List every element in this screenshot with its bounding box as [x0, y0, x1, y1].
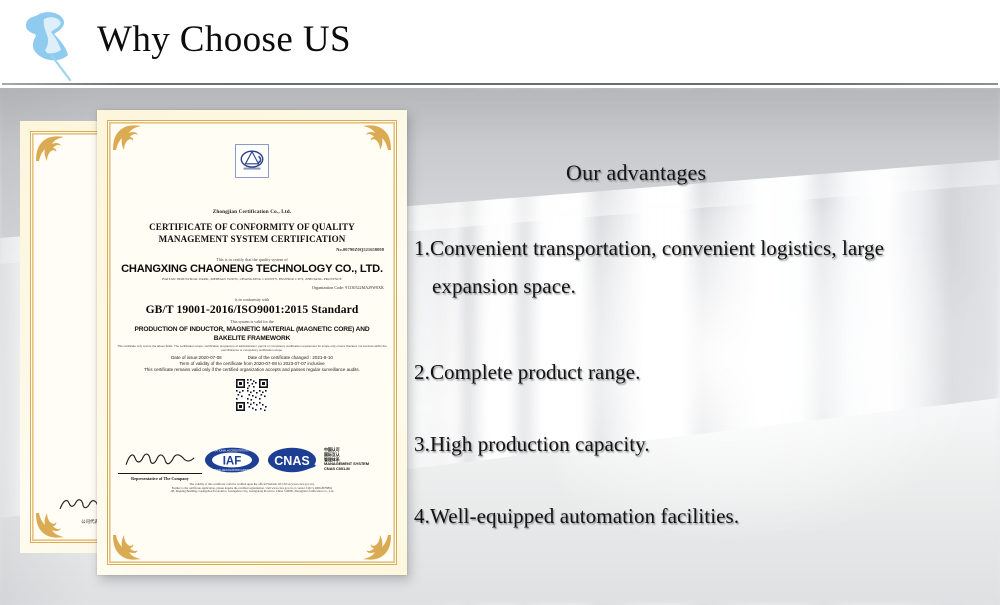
- iaf-logo-icon: IAF INTERNATIONAL ACCREDITATION FORUM MU…: [204, 447, 260, 473]
- certificate-title: CERTIFICATE OF CONFORMITY OF QUALITY MAN…: [108, 221, 396, 246]
- signature-icon: [120, 451, 200, 467]
- certificate-company-name: CHANGXING CHAONENG TECHNOLOGY CO., LTD.: [108, 263, 396, 275]
- corner-flourish-icon: [360, 123, 394, 153]
- certificate-dates: Date of issue:2020-07-08 Date of the cer…: [114, 355, 390, 374]
- certificate-standard: GB/T 19001-2016/ISO9001:2015 Standard: [108, 303, 396, 316]
- certificate-org-code: Organization Code: 91330522MA29W8XK: [312, 285, 384, 290]
- certificate-issuer: Zhongjian Certification Co., Ltd.: [108, 209, 396, 215]
- cnas-text-line5: CNAS C001-M: [324, 467, 369, 472]
- certificate-footer-line3: -48, Jingning Building, Guangzhou Econom…: [116, 490, 388, 494]
- certificate-scope: PRODUCTION OF INDUCTOR, MAGNETIC MATERIA…: [112, 326, 392, 343]
- cnas-accreditation-text: 中国认可 国际互认 管理体系 MANAGEMENT SYSTEM CNAS C0…: [324, 448, 369, 473]
- signature-label: Representative of The Company: [118, 476, 202, 481]
- header-divider: [2, 83, 998, 85]
- header: Why Choose US: [0, 0, 1000, 88]
- svg-text:INTERNATIONAL ACCREDITATION FO: INTERNATIONAL ACCREDITATION FORUM: [206, 449, 258, 453]
- cqc-logo-icon: [235, 144, 269, 178]
- certificate-valid-label: This system is valid for the: [108, 319, 396, 324]
- certificate-number: No.00790Z0Q521658098: [336, 247, 384, 252]
- certificate-conformity-label: is in conformity with: [108, 297, 396, 302]
- qr-code-icon: [234, 377, 270, 413]
- corner-flourish-icon: [110, 532, 144, 562]
- corner-flourish-icon: [33, 134, 67, 164]
- svg-text:IAF: IAF: [223, 455, 242, 467]
- svg-text:MULTILATERAL RECOGNITION ARRAN: MULTILATERAL RECOGNITION ARRANGEMENT: [204, 468, 260, 472]
- svg-text:CNAS: CNAS: [274, 454, 309, 468]
- certificate-scope-line1: PRODUCTION OF INDUCTOR, MAGNETIC MATERIA…: [112, 326, 392, 335]
- accreditation-marks: IAF INTERNATIONAL ACCREDITATION FORUM MU…: [204, 447, 369, 473]
- cnas-logo-icon: CNAS: [267, 447, 317, 473]
- certificate-title-line2: MANAGEMENT SYSTEM CERTIFICATION: [108, 233, 396, 245]
- certificate-address: BAITAN INDUSTRIAL PARK, MEIBIAN TOWN, CH…: [108, 277, 396, 281]
- certificate-signature-block: Representative of The Company: [118, 451, 202, 481]
- pushpin-icon: [14, 6, 86, 82]
- content-stage: 质量 证书可扫描查询 公司代表 签发 日期: [0, 88, 1000, 605]
- corner-flourish-icon: [110, 123, 144, 153]
- certificate-scope-line2: BAKELITE FRAMEWORK: [112, 335, 392, 344]
- certificate-surveillance: This certificate remains valid only if t…: [114, 367, 390, 373]
- why-choose-us-banner: Why Choose US: [0, 0, 1000, 605]
- certificate-footer: The validity of this certificate could b…: [116, 483, 388, 494]
- certificate-front-inner-frame: Zhongjian Certification Co., Ltd. CERTIF…: [107, 120, 397, 565]
- certificate-preamble: This is to certify that the quality syst…: [108, 257, 396, 262]
- certificate-title-line1: CERTIFICATE OF CONFORMITY OF QUALITY: [108, 221, 396, 233]
- corner-flourish-icon: [360, 532, 394, 562]
- page-title: Why Choose US: [97, 18, 351, 61]
- certificate-front: Zhongjian Certification Co., Ltd. CERTIF…: [97, 110, 407, 575]
- signature-rule: [118, 473, 202, 474]
- certificate-fine-print: This certificate only covers the above f…: [114, 345, 390, 352]
